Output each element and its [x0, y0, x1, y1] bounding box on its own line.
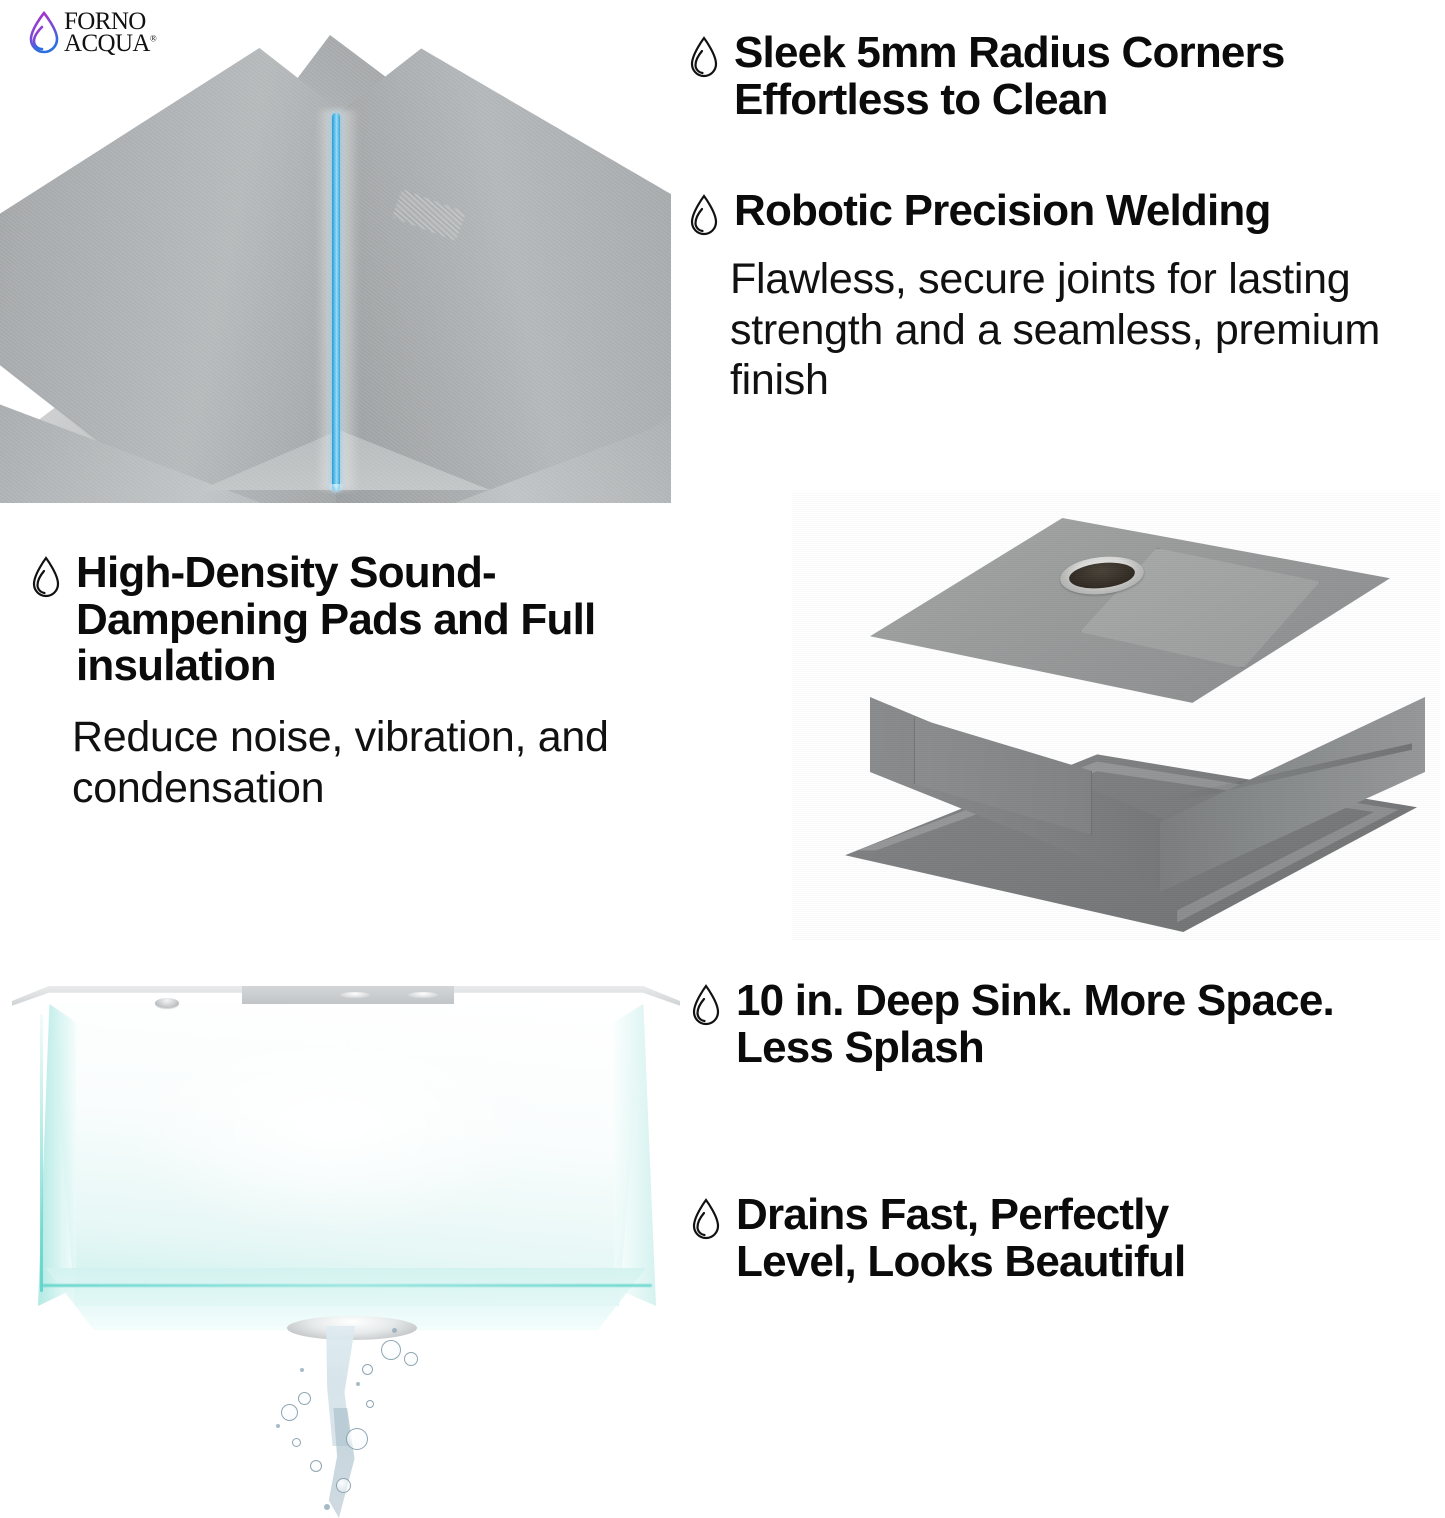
water-bubble	[404, 1352, 418, 1366]
water-drop-icon	[690, 1198, 722, 1242]
bowl-right-wall	[614, 1004, 656, 1306]
rim-accessory-hole-1	[340, 992, 370, 998]
water-drop-icon	[27, 10, 61, 56]
draining-water-stream-lower	[315, 1408, 361, 1518]
water-bubble	[362, 1364, 373, 1375]
water-drop-icon	[690, 984, 722, 1028]
registered-mark: ®	[150, 34, 156, 44]
feature-body: Flawless, secure joints for lasting stre…	[730, 254, 1428, 406]
weld-seam-highlight	[332, 113, 340, 491]
bowl-light-sheen	[120, 1038, 540, 1238]
feature-sound-dampening: High-Density Sound-Dampening Pads and Fu…	[30, 550, 690, 813]
feature-heading: Robotic Precision Welding	[734, 188, 1271, 235]
bowl-left-wall	[38, 1004, 76, 1306]
brand-name-line2: ACQUA®	[64, 33, 156, 55]
weld-seam-tip-glow	[329, 484, 343, 496]
rim-accessory-hole-2	[408, 992, 438, 998]
water-bubble	[292, 1438, 301, 1447]
water-bubble	[310, 1460, 322, 1472]
feature-heading: High-Density Sound-Dampening Pads and Fu…	[76, 550, 690, 690]
drain-hole-interior	[1068, 560, 1136, 592]
feature-heading: Sleek 5mm Radius Corners Effortless to C…	[734, 30, 1418, 123]
sink-deep-bowl-draining-image	[0, 968, 692, 1445]
water-droplet	[276, 1424, 280, 1428]
feature-heading: 10 in. Deep Sink. More Space. Less Splas…	[736, 978, 1390, 1071]
water-bubble	[298, 1392, 311, 1405]
water-drop-icon	[688, 194, 720, 238]
feature-radius-corners: Sleek 5mm Radius Corners Effortless to C…	[688, 30, 1418, 123]
feature-heading: Drains Fast, Perfectly Level, Looks Beau…	[736, 1192, 1250, 1285]
water-bubble	[346, 1428, 368, 1450]
water-droplet	[392, 1328, 397, 1333]
infographic-canvas: FORNO ACQUA®	[0, 0, 1445, 1445]
brand-logo: FORNO ACQUA®	[27, 10, 156, 56]
water-droplet	[300, 1368, 304, 1372]
faucet-mount-hole	[155, 998, 179, 1008]
feature-deep-sink: 10 in. Deep Sink. More Space. Less Splas…	[690, 978, 1390, 1071]
brand-wordmark: FORNO ACQUA®	[64, 11, 156, 55]
water-bubble	[366, 1400, 374, 1408]
water-droplet	[324, 1504, 330, 1510]
water-drop-icon	[30, 556, 62, 600]
water-bubble	[281, 1404, 298, 1421]
feature-drains-fast: Drains Fast, Perfectly Level, Looks Beau…	[690, 1192, 1250, 1285]
water-droplet	[356, 1382, 360, 1386]
feature-robotic-welding: Robotic Precision Welding Flawless, secu…	[688, 188, 1428, 406]
bowl-left-edge-glow	[40, 1014, 43, 1292]
sink-corner-closeup-image	[0, 0, 671, 503]
water-drop-icon	[688, 36, 720, 80]
water-bubble	[381, 1340, 401, 1360]
sink-underside-image	[792, 492, 1440, 940]
water-bubble	[336, 1478, 351, 1493]
feature-body: Reduce noise, vibration, and condensatio…	[72, 712, 690, 813]
bowl-bottom-edge-glow	[40, 1284, 652, 1287]
